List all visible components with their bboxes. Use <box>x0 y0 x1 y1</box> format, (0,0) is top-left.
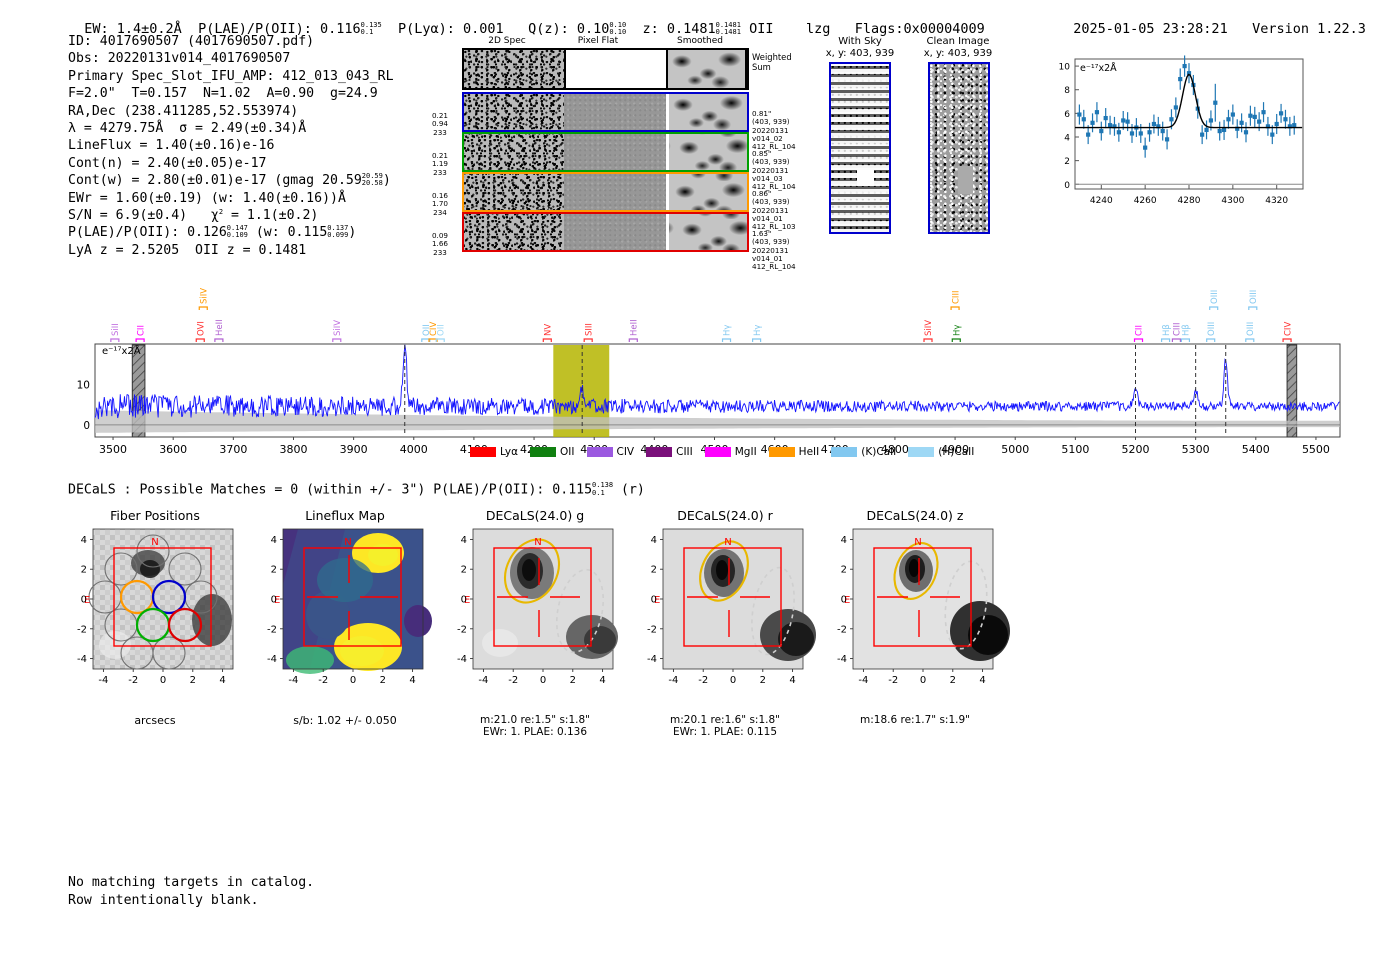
header-z-range: 0.14810.1481 <box>716 22 741 37</box>
decals-header-text: DECaLS : Possible Matches = 0 (within +/… <box>68 483 592 498</box>
svg-text:Hβ: Hβ <box>1162 324 1172 336</box>
weighted-sum-pixelflat <box>566 50 666 88</box>
legend-label: CIV <box>617 446 635 458</box>
svg-text:SiIV: SiIV <box>333 320 343 336</box>
svg-text:4000: 4000 <box>400 443 428 456</box>
svg-text:-4: -4 <box>457 654 467 665</box>
svg-text:-2: -2 <box>837 624 847 635</box>
svg-text:HeII: HeII <box>215 319 225 336</box>
decals-header-band: (r) <box>621 483 645 498</box>
legend-swatch <box>908 447 934 457</box>
svg-text:e⁻¹⁷x2Å: e⁻¹⁷x2Å <box>1080 62 1117 74</box>
svg-text:Hγ: Hγ <box>952 325 962 336</box>
svg-text:3900: 3900 <box>340 443 368 456</box>
svg-text:0: 0 <box>651 595 657 606</box>
svg-text:-4: -4 <box>288 675 298 686</box>
compass-n: N <box>151 537 158 548</box>
legend-swatch <box>470 447 496 457</box>
svg-text:5100: 5100 <box>1061 443 1089 456</box>
panel-decals-g: DECaLS(24.0) g N E -4-4-2-2002244 m:21.0… <box>440 508 630 733</box>
footer-line-2: Row intentionally blank. <box>68 892 314 910</box>
svg-text:10: 10 <box>1059 63 1071 73</box>
info-id: ID: 4017690507 (4017690507.pdf) <box>68 33 394 50</box>
panel-lineflux-map: Lineflux Map <box>250 508 440 733</box>
header-timestamp-block: 2025-01-05 23:28:21 Version 1.22.3 <box>1057 5 1366 37</box>
info-lambda: λ = 4279.75Å σ = 2.49(±0.34)Å <box>68 120 394 137</box>
legend-swatch <box>831 447 857 457</box>
svg-text:4280: 4280 <box>1178 196 1201 206</box>
compass-n: N <box>724 537 731 548</box>
svg-text:-2: -2 <box>698 675 708 686</box>
decals-r-svg: N E -4-4-2-2002244 <box>630 525 820 730</box>
info-radec: RA,Dec (238.411285,52.553974) <box>68 103 394 120</box>
svg-text:OIII: OIII <box>1246 322 1256 336</box>
legend-item: OII <box>530 446 574 458</box>
spec2d-col-title-smoothed: Smoothed <box>652 36 748 46</box>
spec2d-weighted-sum-row <box>462 48 749 90</box>
header-qz-range: 0.100.10 <box>609 22 626 37</box>
svg-text:2: 2 <box>81 565 87 576</box>
svg-text:CII: CII <box>1135 325 1145 336</box>
svg-text:OII: OII <box>436 324 446 336</box>
decals-z-svg: N E -4-4-2-2002244 <box>820 525 1010 730</box>
info-ewr: EWr = 1.60(±0.19) (w: 1.40(±0.16))Å <box>68 190 394 207</box>
svg-text:0: 0 <box>540 675 546 686</box>
legend-item: HeII <box>769 446 820 458</box>
line-fit-inset-plot: 0246810 42404260428043004320 e⁻¹⁷x2Å <box>1035 55 1310 227</box>
svg-text:5400: 5400 <box>1242 443 1270 456</box>
info-cont-w: Cont(w) = 2.80(±0.01)e-17 (gmag 20.5920.… <box>68 172 394 189</box>
svg-text:HeII: HeII <box>629 319 639 336</box>
svg-text:-4: -4 <box>98 675 108 686</box>
svg-text:-2: -2 <box>647 624 657 635</box>
svg-text:SiIV: SiIV <box>924 320 934 336</box>
svg-text:-4: -4 <box>77 654 87 665</box>
svg-text:SiII: SiII <box>111 323 121 336</box>
svg-text:-4: -4 <box>647 654 657 665</box>
legend-label: CIII <box>676 446 693 458</box>
row-2dspec-image <box>464 94 564 130</box>
svg-text:2: 2 <box>651 565 657 576</box>
row-pixelflat-image <box>564 94 666 130</box>
header-classifier: lzg <box>806 21 830 37</box>
svg-text:Hγ: Hγ <box>723 325 733 336</box>
decals-header: DECaLS : Possible Matches = 0 (within +/… <box>68 482 645 498</box>
panel-caption1: m:18.6 re:1.7" s:1.9" <box>820 714 1010 726</box>
svg-text:3600: 3600 <box>159 443 187 456</box>
svg-text:-2: -2 <box>77 624 87 635</box>
legend-label: MgII <box>735 446 757 458</box>
spec2d-row <box>462 92 749 132</box>
panel-title: Lineflux Map <box>250 508 440 523</box>
legend-item: CIII <box>646 446 693 458</box>
lineflux-map-svg: N E -4-4-2-2002244 <box>250 525 440 730</box>
legend-swatch <box>530 447 556 457</box>
spec2d-row-left-labels: 0.091.66233 <box>424 215 456 265</box>
svg-text:3800: 3800 <box>279 443 307 456</box>
svg-text:-2: -2 <box>267 624 277 635</box>
svg-text:4: 4 <box>461 535 467 546</box>
svg-text:2: 2 <box>760 675 766 686</box>
svg-text:-2: -2 <box>457 624 467 635</box>
svg-text:5500: 5500 <box>1302 443 1330 456</box>
svg-text:0: 0 <box>81 595 87 606</box>
decals-g-svg: N E -4-4-2-2002244 <box>440 525 630 730</box>
svg-text:0: 0 <box>730 675 736 686</box>
svg-text:4: 4 <box>1064 134 1070 144</box>
svg-text:3700: 3700 <box>219 443 247 456</box>
panel-caption2: EWr: 1. PLAE: 0.136 <box>440 726 630 738</box>
svg-text:-4: -4 <box>478 675 488 686</box>
weighted-sum-2dspec <box>464 50 564 88</box>
row-smoothed-image <box>669 134 747 170</box>
panel-fiber-positions: Fiber Positions <box>60 508 250 733</box>
svg-text:2: 2 <box>950 675 956 686</box>
svg-text:4320: 4320 <box>1265 196 1288 206</box>
svg-text:0: 0 <box>1064 181 1070 191</box>
svg-text:4: 4 <box>81 535 87 546</box>
compass-n: N <box>914 537 921 548</box>
spec2d-col-title-2dspec: 2D Spec <box>462 36 552 46</box>
panel-decals-r: DECaLS(24.0) r N E -4-4-2-2002244 m:20.1… <box>630 508 820 733</box>
header-flags: Flags:0x00004009 <box>855 21 985 37</box>
header-plya: P(Lyα): 0.001 <box>398 21 504 37</box>
weighted-sum-label: Weighted Sum <box>752 52 792 72</box>
panel-caption1: m:21.0 re:1.5" s:1.8" <box>440 714 630 726</box>
info-redshifts: LyA z = 2.5205 OII z = 0.1481 <box>68 242 394 259</box>
svg-text:OIII: OIII <box>1249 290 1259 304</box>
row-smoothed-image <box>669 214 747 250</box>
svg-text:CIII: CIII <box>951 291 961 304</box>
svg-text:2: 2 <box>380 675 386 686</box>
svg-text:-4: -4 <box>267 654 277 665</box>
svg-text:-4: -4 <box>858 675 868 686</box>
panel-caption2: EWr: 1. PLAE: 0.115 <box>630 726 820 738</box>
svg-text:CIV: CIV <box>1283 322 1293 336</box>
svg-text:4260: 4260 <box>1134 196 1157 206</box>
footer-line-1: No matching targets in catalog. <box>68 874 314 892</box>
svg-text:4: 4 <box>409 675 415 686</box>
svg-text:3500: 3500 <box>99 443 127 456</box>
row-smoothed-image <box>669 94 747 130</box>
svg-text:-2: -2 <box>318 675 328 686</box>
svg-text:-2: -2 <box>508 675 518 686</box>
row-2dspec-image <box>464 214 564 250</box>
legend-swatch <box>587 447 613 457</box>
svg-text:OIII: OIII <box>1207 322 1217 336</box>
svg-text:4: 4 <box>841 535 847 546</box>
svg-text:2: 2 <box>1064 157 1070 167</box>
panel-decals-z: DECaLS(24.0) z N E -4-4-2-2002244 m:18.6… <box>820 508 1010 733</box>
info-snr: S/N = 6.9(±0.4) χ2 = 1.1(±0.2) <box>68 207 394 224</box>
svg-text:OVI: OVI <box>196 321 206 336</box>
panel-title: DECaLS(24.0) z <box>820 508 1010 523</box>
cutout-withsky-image <box>829 62 891 234</box>
svg-text:4: 4 <box>271 535 277 546</box>
full-spectrum-svg: SiIICIIOVISiIVHeIISiIVOIICIVOIINVSIIIHeI… <box>60 268 1350 468</box>
withsky-mask-box <box>857 170 874 186</box>
info-primary-spec: Primary Spec_Slot_IFU_AMP: 412_013_043_R… <box>68 68 394 85</box>
svg-text:Hγ: Hγ <box>753 325 763 336</box>
svg-text:-2: -2 <box>128 675 138 686</box>
row-pixelflat-image <box>564 174 666 210</box>
row-smoothed-image <box>669 174 747 210</box>
svg-text:4: 4 <box>599 675 605 686</box>
svg-text:4: 4 <box>789 675 795 686</box>
legend-swatch <box>646 447 672 457</box>
svg-text:4240: 4240 <box>1090 196 1113 206</box>
svg-text:0: 0 <box>841 595 847 606</box>
cutout-clean-title: Clean Imagex, y: 403, 939 <box>898 36 1018 60</box>
svg-text:2: 2 <box>190 675 196 686</box>
svg-text:2: 2 <box>461 565 467 576</box>
svg-text:8: 8 <box>1064 86 1070 96</box>
cutout-clean-image <box>928 62 990 234</box>
panel-title: DECaLS(24.0) g <box>440 508 630 523</box>
legend-item: Lyα <box>470 446 518 458</box>
panel-title: Fiber Positions <box>60 508 250 523</box>
header-timestamp: 2025-01-05 23:28:21 <box>1073 21 1227 37</box>
svg-text:0: 0 <box>920 675 926 686</box>
spec2d-row <box>462 132 749 172</box>
svg-text:2: 2 <box>841 565 847 576</box>
header-version: Version 1.22.3 <box>1252 21 1366 37</box>
source-info-block: ID: 4017690507 (4017690507.pdf) Obs: 202… <box>68 33 394 259</box>
row-pixelflat-image <box>564 214 666 250</box>
header-z-species: OII <box>749 21 773 37</box>
svg-text:-4: -4 <box>668 675 678 686</box>
decals-panels-row: Fiber Positions <box>60 508 1060 738</box>
svg-text:CII: CII <box>136 325 146 336</box>
svg-text:4: 4 <box>979 675 985 686</box>
legend-label: OII <box>560 446 574 458</box>
info-obs: Obs: 20220131v014_4017690507 <box>68 50 394 67</box>
svg-text:5300: 5300 <box>1182 443 1210 456</box>
row-2dspec-image <box>464 134 564 170</box>
svg-text:SIII: SIII <box>584 323 594 336</box>
svg-text:6: 6 <box>1064 110 1070 120</box>
svg-text:Hβ: Hβ <box>1182 324 1192 336</box>
svg-text:5200: 5200 <box>1122 443 1150 456</box>
decals-header-range: 0.1380.1 <box>592 482 613 497</box>
legend-label: Lyα <box>500 446 518 458</box>
spec2d-row <box>462 172 749 212</box>
legend-swatch <box>769 447 795 457</box>
panel-xlabel: arcsecs <box>60 714 250 727</box>
svg-text:0: 0 <box>83 420 90 432</box>
panel-caption1: s/b: 1.02 +/- 0.050 <box>250 714 440 727</box>
legend-label: (H)CaII <box>938 446 974 458</box>
spec2d-row <box>462 212 749 252</box>
svg-text:0: 0 <box>461 595 467 606</box>
fiber-positions-svg: N E -4-4-2-2002244 <box>60 525 250 730</box>
legend-item: (K)CaII <box>831 446 896 458</box>
svg-text:e⁻¹⁷x2Å: e⁻¹⁷x2Å <box>102 344 141 357</box>
legend-item: MgII <box>705 446 757 458</box>
info-plae: P(LAE)/P(OII): 0.1260.1470.109 (w: 0.115… <box>68 224 394 241</box>
info-lineflux: LineFlux = 1.40(±0.16)e-16 <box>68 137 394 154</box>
spec2d-col-title-pixelflat: Pixel Flat <box>550 36 646 46</box>
svg-text:4: 4 <box>651 535 657 546</box>
svg-text:0: 0 <box>160 675 166 686</box>
svg-text:SiIV: SiIV <box>199 288 209 304</box>
panel-caption1: m:20.1 re:1.6" s:1.8" <box>630 714 820 726</box>
svg-text:2: 2 <box>570 675 576 686</box>
full-spectrum-panel: SiIICIIOVISiIVHeIISiIVOIICIVOIINVSIIIHeI… <box>60 268 1350 468</box>
line-fit-svg: 0246810 42404260428043004320 e⁻¹⁷x2Å <box>1035 55 1310 227</box>
weighted-sum-smoothed <box>668 50 745 88</box>
svg-text:OIII: OIII <box>1210 290 1220 304</box>
info-cont-n: Cont(n) = 2.40(±0.05)e-17 <box>68 155 394 172</box>
header-qz: Q(z): 0.10 <box>528 21 609 37</box>
legend-item: CIV <box>587 446 635 458</box>
svg-text:NV: NV <box>543 324 553 336</box>
compass-n: N <box>344 537 351 548</box>
panel-title: DECaLS(24.0) r <box>630 508 820 523</box>
svg-text:-4: -4 <box>837 654 847 665</box>
svg-text:5000: 5000 <box>1001 443 1029 456</box>
svg-text:0: 0 <box>350 675 356 686</box>
footer-block: No matching targets in catalog. Row inte… <box>68 874 314 909</box>
svg-text:4: 4 <box>219 675 225 686</box>
svg-text:2: 2 <box>271 565 277 576</box>
spectrum-legend: LyαOIICIVCIIIMgIIHeII(K)CaII(H)CaII <box>470 446 974 458</box>
legend-label: HeII <box>799 446 820 458</box>
header-z: z: 0.1481 <box>642 21 715 37</box>
svg-text:-2: -2 <box>888 675 898 686</box>
info-seeing: F=2.0" T=0.157 N=1.02 A=0.90 g=24.9 <box>68 85 394 102</box>
legend-item: (H)CaII <box>908 446 974 458</box>
legend-label: (K)CaII <box>861 446 896 458</box>
svg-text:0: 0 <box>271 595 277 606</box>
svg-text:4300: 4300 <box>1221 196 1244 206</box>
row-pixelflat-image <box>564 134 666 170</box>
compass-n: N <box>534 537 541 548</box>
row-2dspec-image <box>464 174 564 210</box>
legend-swatch <box>705 447 731 457</box>
clean-mask-box <box>958 166 973 194</box>
svg-text:10: 10 <box>77 379 90 391</box>
